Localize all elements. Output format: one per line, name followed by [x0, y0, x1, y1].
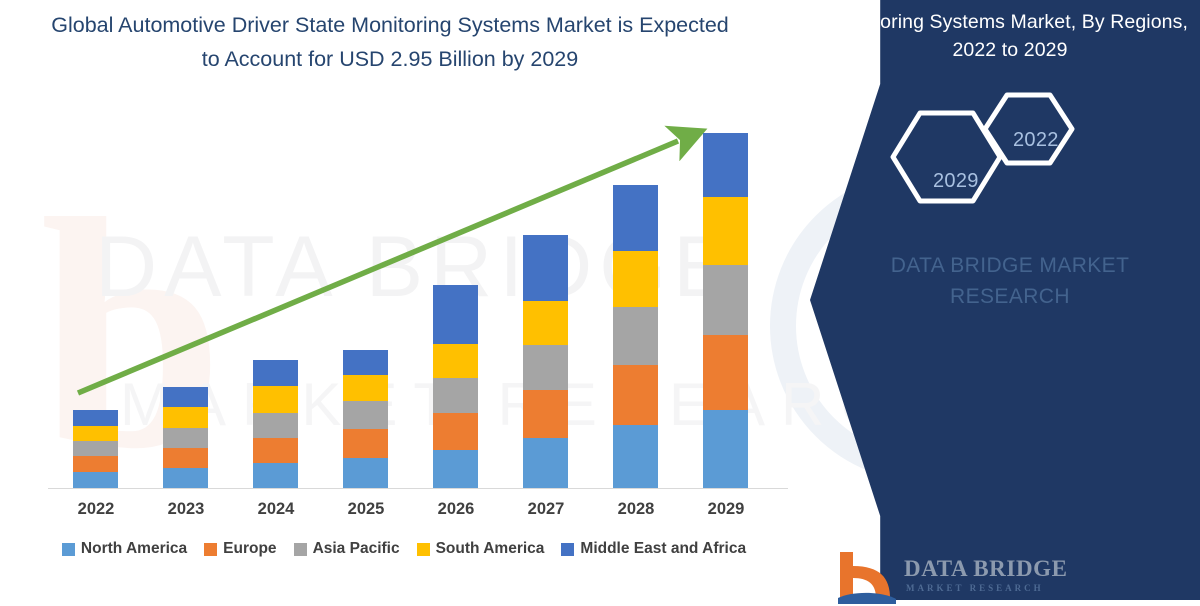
legend-swatch — [294, 543, 307, 556]
right-side-panel-content: Monitoring Systems Market, By Regions, 2… — [810, 0, 1200, 600]
bar-segment — [433, 378, 478, 413]
brand-line-2: RESEARCH — [830, 281, 1190, 312]
bar-2029 — [703, 133, 748, 488]
legend-label: Europe — [223, 540, 276, 558]
x-tick-2028: 2028 — [591, 500, 681, 519]
logo-tagline: MARKET RESEARCH — [906, 583, 1044, 593]
bar-segment — [433, 450, 478, 488]
bar-segment — [523, 235, 568, 301]
hexagon-label-2029: 2029 — [933, 170, 979, 193]
bar-segment — [433, 285, 478, 344]
chart-area: Global Automotive Driver State Monitorin… — [0, 0, 830, 600]
bar-segment — [253, 463, 298, 488]
bar-segment — [523, 345, 568, 390]
x-tick-2026: 2026 — [411, 500, 501, 519]
bar-segment — [163, 448, 208, 468]
chart-legend: North AmericaEuropeAsia PacificSouth Ame… — [0, 540, 808, 558]
bridge-logo-icon — [838, 552, 898, 604]
legend-item[interactable]: North America — [62, 540, 187, 558]
x-tick-2025: 2025 — [321, 500, 411, 519]
legend-item[interactable]: Asia Pacific — [294, 540, 400, 558]
bar-segment — [343, 429, 388, 458]
bar-segment — [163, 428, 208, 448]
bar-segment — [613, 185, 658, 251]
bar-segment — [703, 197, 748, 265]
bar-segment — [343, 350, 388, 375]
bar-segment — [613, 251, 658, 307]
logo-name: DATA BRIDGE — [904, 556, 1068, 582]
bar-2024 — [253, 360, 298, 488]
hexagon-pair: 2022 2029 — [880, 85, 1130, 230]
bar-segment — [253, 360, 298, 386]
bar-segment — [73, 410, 118, 426]
legend-swatch — [561, 543, 574, 556]
bar-2022 — [73, 410, 118, 488]
legend-label: North America — [81, 540, 187, 558]
bar-segment — [613, 307, 658, 365]
bar-segment — [703, 335, 748, 410]
stacked-bar-chart: 20222023202420252026202720282029 — [0, 0, 830, 600]
bar-segment — [523, 438, 568, 488]
x-tick-2023: 2023 — [141, 500, 231, 519]
panel-title: Monitoring Systems Market, By Regions, 2… — [830, 8, 1190, 64]
bar-segment — [73, 441, 118, 456]
x-axis-line — [48, 488, 788, 489]
bar-segment — [433, 344, 478, 378]
legend-swatch — [62, 543, 75, 556]
hexagon-label-2022: 2022 — [1013, 129, 1059, 152]
bar-segment — [73, 426, 118, 441]
bar-segment — [253, 438, 298, 463]
bar-segment — [163, 387, 208, 407]
legend-item[interactable]: Middle East and Africa — [561, 540, 746, 558]
bar-segment — [253, 386, 298, 413]
bar-segment — [253, 413, 298, 438]
x-tick-2022: 2022 — [51, 500, 141, 519]
bar-2023 — [163, 387, 208, 488]
bar-segment — [703, 265, 748, 335]
bar-segment — [73, 472, 118, 488]
legend-label: Asia Pacific — [313, 540, 400, 558]
bar-segment — [343, 401, 388, 429]
bar-segment — [343, 458, 388, 488]
bar-segment — [343, 375, 388, 401]
brand-line-1: DATA BRIDGE MARKET — [830, 250, 1190, 281]
bar-2028 — [613, 185, 658, 488]
x-tick-2024: 2024 — [231, 500, 321, 519]
bar-segment — [613, 425, 658, 488]
bar-segment — [703, 133, 748, 197]
legend-label: South America — [436, 540, 545, 558]
bar-segment — [523, 390, 568, 438]
hexagon-outlines-icon — [880, 85, 1130, 230]
brand-name: DATA BRIDGE MARKET RESEARCH — [830, 250, 1190, 312]
bar-2026 — [433, 285, 478, 488]
legend-label: Middle East and Africa — [580, 540, 746, 558]
bar-segment — [163, 407, 208, 428]
bar-segment — [523, 301, 568, 345]
bar-segment — [613, 365, 658, 425]
bar-segment — [73, 456, 118, 472]
bar-segment — [433, 413, 478, 450]
company-logo: DATA BRIDGE MARKET RESEARCH — [838, 550, 1068, 606]
legend-swatch — [204, 543, 217, 556]
bar-segment — [163, 468, 208, 488]
legend-item[interactable]: Europe — [204, 540, 276, 558]
bar-2027 — [523, 235, 568, 488]
x-tick-2027: 2027 — [501, 500, 591, 519]
legend-swatch — [417, 543, 430, 556]
bar-segment — [703, 410, 748, 488]
x-tick-2029: 2029 — [681, 500, 771, 519]
legend-item[interactable]: South America — [417, 540, 545, 558]
bar-2025 — [343, 350, 388, 488]
